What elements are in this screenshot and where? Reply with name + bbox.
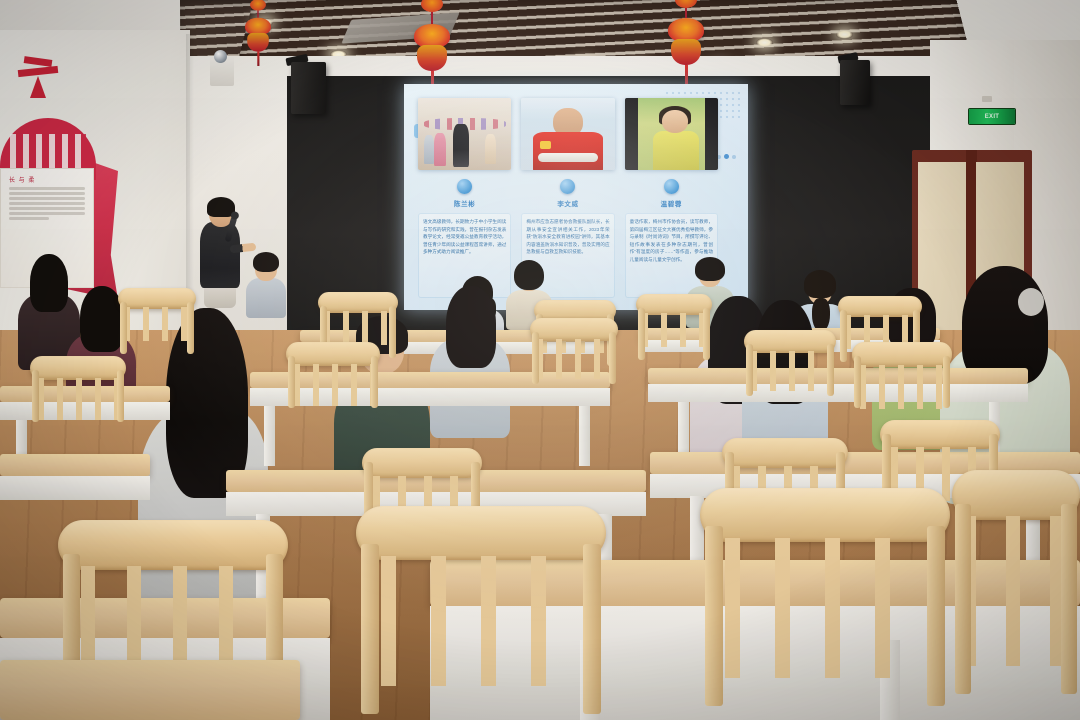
chair[interactable] <box>118 288 196 358</box>
chair[interactable] <box>852 342 952 426</box>
profile-name: 温碧蓉 <box>661 198 682 208</box>
avatar-dot-icon <box>457 179 472 194</box>
wall-card-line <box>9 217 49 220</box>
red-chinese-knot-decor <box>14 58 62 110</box>
profile-photo-rescue-worker <box>521 98 614 170</box>
wall-card-line <box>9 192 85 195</box>
pager-dot-active[interactable] <box>724 154 729 159</box>
wall-card-line <box>9 207 85 210</box>
chair-foreground[interactable] <box>952 470 1080 720</box>
profile-photo-classroom <box>418 98 511 170</box>
wall-card-title: 长 与 柔 <box>9 175 85 184</box>
chair[interactable] <box>530 318 618 394</box>
table <box>648 368 1028 384</box>
slide-profile-cards: 陈兰彬 语文高级教师，长期致力于中小学生阅读与写作的研究和实践，曾在报刊杂志发表… <box>418 98 718 298</box>
hanging-ornament <box>244 0 273 66</box>
table-foreground-edge <box>0 660 300 720</box>
ceiling-sensor <box>982 96 992 102</box>
downlight <box>756 38 773 47</box>
exit-sign-label: EXIT <box>969 109 1015 124</box>
chair[interactable] <box>636 294 712 362</box>
profile-name: 李文威 <box>557 198 578 208</box>
chair-foreground[interactable] <box>700 488 950 720</box>
pager-dot[interactable] <box>732 155 736 159</box>
profile-bio: 童话作家，梅州市作协会员，读写教师，第四届梅江区征文大赛优秀指导教师，参与录制《… <box>630 218 713 263</box>
wall-card-line <box>9 202 85 205</box>
chair-foreground[interactable] <box>356 506 606 720</box>
chair[interactable] <box>30 356 126 438</box>
wall-card-line <box>9 187 85 190</box>
profile-bio: 语文高级教师，长期致力于中小学生阅读与写作的研究和实践，曾在报刊杂志发表教学论文… <box>423 218 506 256</box>
slide-pagination-dots[interactable] <box>717 154 736 159</box>
table <box>0 454 150 476</box>
avatar-dot-icon <box>664 179 679 194</box>
profile-name: 陈兰彬 <box>454 198 475 208</box>
audience-member <box>246 252 286 312</box>
downlight <box>836 30 853 39</box>
wall-camera <box>210 56 234 86</box>
profile-photo-woman-outdoors <box>625 98 718 170</box>
wall-speaker-right <box>840 60 870 105</box>
exit-sign: EXIT <box>968 108 1016 125</box>
profile-card: 陈兰彬 语文高级教师，长期致力于中小学生阅读与写作的研究和实践，曾在报刊杂志发表… <box>418 98 511 298</box>
wall-card-line <box>9 197 85 200</box>
chair[interactable] <box>286 342 380 422</box>
avatar-dot-icon <box>560 179 575 194</box>
photo-scene: EXIT 长 与 柔 <box>0 0 1080 720</box>
wall-speaker-left <box>291 62 326 114</box>
profile-bio: 梅州市应急志愿者协会救援队副队长，长期从事安全宣讲相关工作，2023年荣获“防溺… <box>526 218 609 256</box>
wall-card-line <box>9 212 85 215</box>
chair[interactable] <box>744 330 836 408</box>
